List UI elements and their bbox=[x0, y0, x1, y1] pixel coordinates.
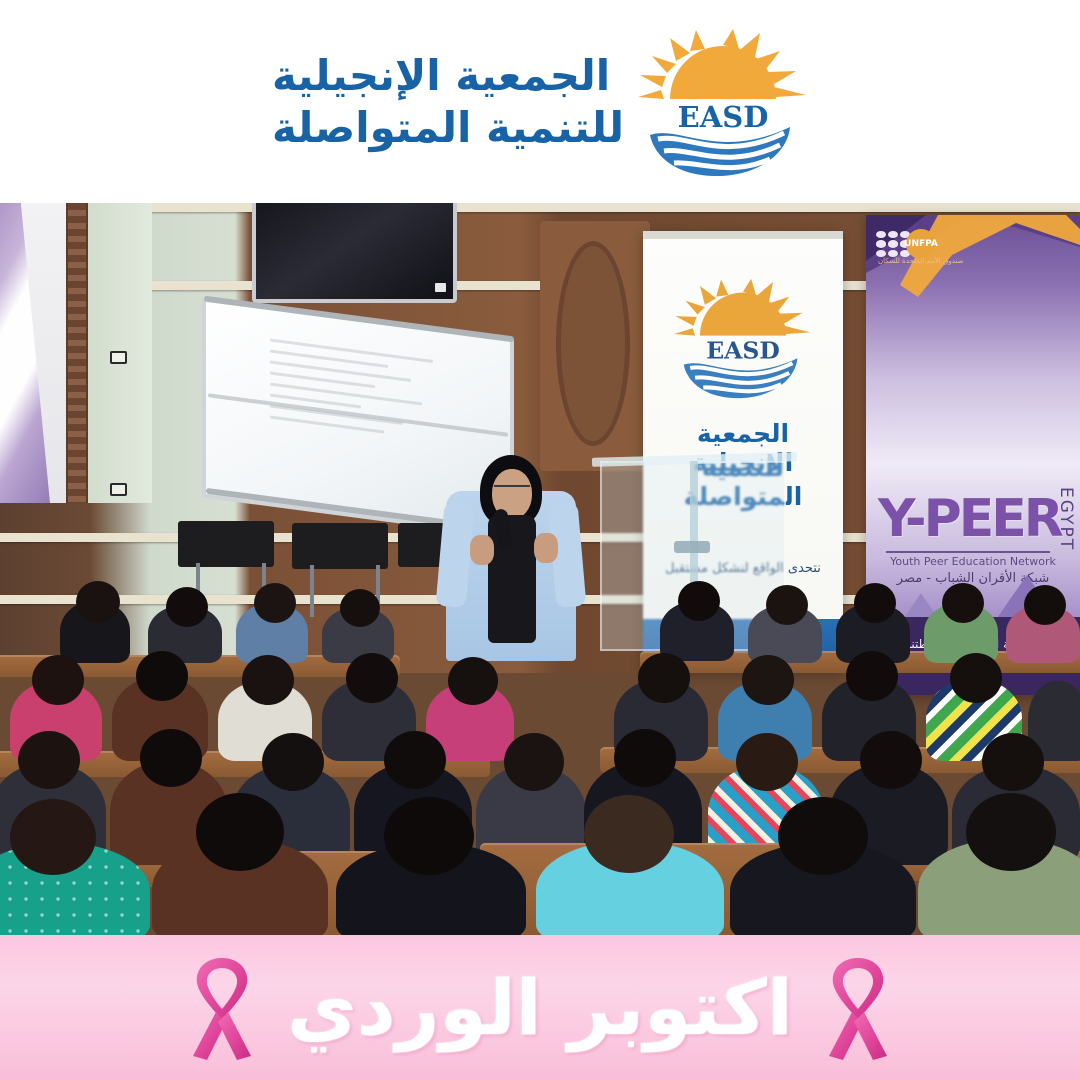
easd-logo-icon: EASD bbox=[638, 27, 808, 177]
ypeer-subtitle-ar: شبكة الأقران الشباب - مصر bbox=[866, 571, 1080, 586]
audience-head bbox=[254, 583, 296, 623]
ypeer-divider bbox=[886, 551, 1050, 553]
chair bbox=[178, 521, 274, 567]
audience-head bbox=[18, 731, 80, 789]
audience-head bbox=[140, 729, 202, 787]
chair-leg bbox=[310, 565, 314, 617]
chair bbox=[292, 523, 388, 569]
pink-october-banner: اكتوبر الوردي bbox=[0, 935, 1080, 1080]
audience-head bbox=[942, 583, 984, 623]
audience-head bbox=[742, 655, 794, 705]
wall-trim bbox=[0, 203, 1080, 212]
audience-head bbox=[384, 731, 446, 789]
header-bar: الجمعية الإنجيلية للتنمية المتواصلة bbox=[0, 0, 1080, 203]
audience-head bbox=[846, 651, 898, 701]
ypeer-title: Y-PEER bbox=[878, 493, 1061, 545]
audience-head bbox=[854, 583, 896, 623]
org-name-line-2: للتنمية المتواصلة bbox=[272, 102, 624, 153]
presenter-glasses-icon bbox=[494, 485, 530, 493]
wood-panel-oval-inset bbox=[556, 241, 630, 446]
ypeer-country-label: EGYPT bbox=[1056, 487, 1076, 551]
presenter-hand bbox=[534, 533, 558, 563]
presenter-hand bbox=[470, 535, 494, 565]
poster-canvas: الجمعية الإنجيلية للتنمية المتواصلة bbox=[0, 0, 1080, 1080]
header-logo-group: الجمعية الإنجيلية للتنمية المتواصلة bbox=[272, 27, 808, 177]
audience-head bbox=[766, 585, 808, 625]
audience-head bbox=[584, 795, 674, 873]
audience-head bbox=[448, 657, 498, 705]
banner-top-rail bbox=[643, 231, 843, 239]
light-switch[interactable] bbox=[110, 351, 127, 364]
svg-text:EASD: EASD bbox=[678, 100, 769, 134]
ypeer-subtitle-en: Youth Peer Education Network bbox=[866, 555, 1080, 568]
light-switch[interactable] bbox=[110, 483, 127, 496]
audience-head bbox=[966, 793, 1056, 871]
wall-monitor bbox=[252, 203, 457, 303]
audience-head bbox=[196, 793, 284, 871]
audience-head bbox=[136, 651, 188, 701]
organization-name: الجمعية الإنجيلية للتنمية المتواصلة bbox=[272, 50, 624, 152]
pink-october-headline: اكتوبر الوردي bbox=[287, 963, 793, 1052]
lectern-clamp bbox=[674, 541, 710, 553]
audience-head bbox=[982, 733, 1044, 791]
audience-head bbox=[638, 653, 690, 703]
unfpa-wordmark: UNFPA bbox=[906, 229, 936, 259]
audience-head bbox=[166, 587, 208, 627]
svg-text:EASD: EASD bbox=[706, 336, 780, 364]
audience-head bbox=[614, 729, 676, 787]
audience-head bbox=[262, 733, 324, 791]
audience-head bbox=[32, 655, 84, 705]
event-photo: EASD الجمعية الإنجيلية للتنمية المتواصلة… bbox=[0, 203, 1080, 935]
audience-head bbox=[678, 581, 720, 621]
audience-head bbox=[340, 589, 380, 627]
audience-head bbox=[860, 731, 922, 789]
audience-head bbox=[384, 797, 474, 875]
audience-head bbox=[10, 799, 96, 875]
audience-head bbox=[1024, 585, 1066, 625]
unfpa-logo-icon: UNFPA صندوق الأمم المتحدة للسكان bbox=[876, 227, 950, 265]
audience-head bbox=[736, 733, 798, 791]
audience-head bbox=[504, 733, 564, 791]
presenter-scarf bbox=[488, 515, 536, 643]
org-name-line-1: الجمعية الإنجيلية bbox=[272, 50, 610, 101]
audience-head bbox=[76, 581, 120, 623]
audience-head bbox=[346, 653, 398, 703]
pink-awareness-ribbon-icon bbox=[819, 952, 897, 1064]
pink-awareness-ribbon-icon bbox=[183, 952, 261, 1064]
audience-head bbox=[242, 655, 294, 705]
audience-head bbox=[778, 797, 868, 875]
carved-wood-trim bbox=[66, 203, 88, 503]
audience-head bbox=[950, 653, 1002, 703]
easd-banner-logo-icon: EASD bbox=[674, 273, 812, 403]
unfpa-arabic-name: صندوق الأمم المتحدة للسكان bbox=[878, 257, 964, 265]
